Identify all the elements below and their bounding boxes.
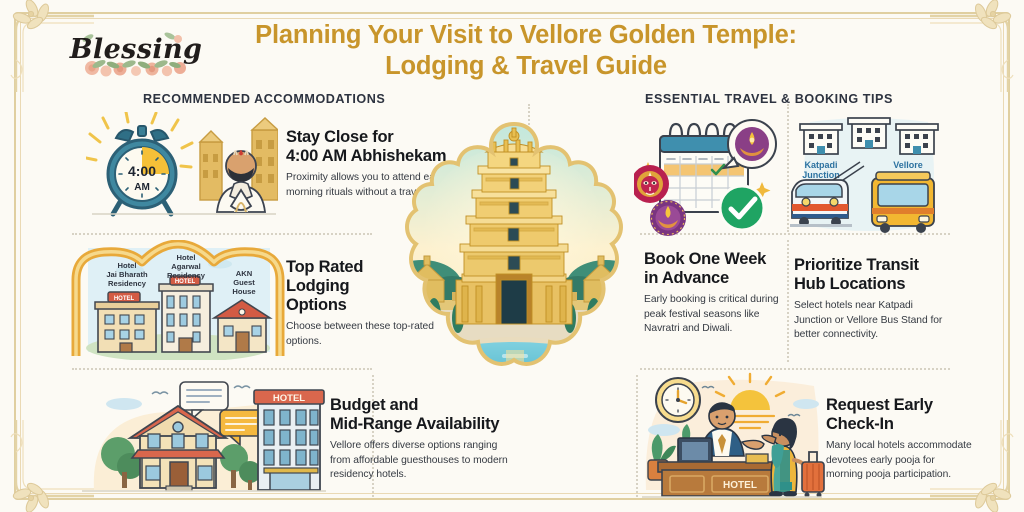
right-block-3-title-line2: Check-In: [826, 415, 894, 433]
left-block-2-title-line2: Lodging: [286, 277, 349, 295]
hotel-label-3: AKN: [236, 269, 252, 278]
hotel-sign-label: HOTEL: [273, 393, 305, 404]
brand-logo: Blessing: [66, 18, 206, 80]
corner-flourish-icon: [930, 0, 1022, 92]
right-block-1-title-line1: Book One Week: [644, 250, 766, 268]
train-and-bus-transit-icon: Katpadi Junction Vellore Bus Stand: [790, 114, 948, 236]
page-title-line1: Planning Your Visit to Vellore Golden Te…: [255, 21, 797, 49]
left-block-3-text: Budget and Mid-Range Availability Vellor…: [330, 396, 510, 483]
alarm-clock-and-priest-icon: 4:00 AM: [86, 112, 278, 224]
transit-label-katpadi: Katpadi: [804, 160, 837, 170]
left-block-2-title-line3: Options: [286, 296, 347, 314]
section-heading-accommodations: RECOMMENDED ACCOMMODATIONS: [143, 92, 385, 106]
svg-text:HOTEL: HOTEL: [114, 296, 135, 302]
right-block-2-title-line1: Prioritize Transit: [794, 256, 919, 274]
divider: [787, 104, 789, 232]
divider: [787, 240, 789, 362]
transit-label-vellore: Vellore: [893, 160, 923, 170]
page-title: Planning Your Visit to Vellore Golden Te…: [196, 20, 856, 82]
hotel-label-2: Agarwal: [171, 262, 201, 271]
right-block-1-title-line2: in Advance: [644, 269, 729, 287]
right-block-3-text: Request Early Check-In Many local hotels…: [826, 396, 974, 483]
brand-logo-text: Blessing: [70, 36, 203, 63]
divider: [72, 233, 372, 235]
hotel-reception-desk-icon: HOTEL: [636, 364, 826, 500]
left-block-2-title-line1: Top Rated: [286, 258, 363, 276]
calendar-with-checkmark-icon: [634, 114, 782, 236]
infographic-page: Blessing Planning Your Visit to Vellore …: [0, 0, 1024, 512]
golden-temple-gopuram-icon: [398, 118, 630, 408]
right-block-1-body: Early booking is critical during peak fe…: [644, 293, 784, 337]
hotel-label-1: Hotel: [118, 261, 137, 270]
left-block-1-title-line1: Stay Close for: [286, 128, 393, 146]
right-block-2-title-line2: Hub Locations: [794, 275, 905, 293]
right-block-3-title-line1: Request Early: [826, 396, 933, 414]
clock-time-label: 4:00: [128, 163, 156, 179]
divider: [72, 368, 372, 370]
hotel-label-2: Residency: [167, 271, 206, 280]
left-block-3-title-line2: Mid-Range Availability: [330, 415, 499, 433]
hotel-label-1: Residency: [108, 279, 147, 288]
page-title-line2: Lodging & Travel Guide: [196, 51, 856, 82]
three-hotel-buildings-icon: HOTEL HOTEL: [70, 240, 286, 360]
hotel-label-3: Guest: [233, 278, 255, 287]
guesthouse-and-hotel-building-icon: HOTEL: [74, 372, 330, 500]
right-block-3-body: Many local hotels accommodate devotees e…: [826, 439, 974, 483]
clock-meridiem-label: AM: [134, 182, 150, 193]
left-block-3-body: Vellore offers diverse options ranging f…: [330, 439, 510, 483]
right-block-2-text: Prioritize Transit Hub Locations Select …: [794, 256, 946, 343]
right-block-2-body: Select hotels near Katpadi Junction or V…: [794, 299, 946, 343]
hotel-label-3: House: [232, 287, 255, 296]
section-heading-travel-tips: ESSENTIAL TRAVEL & BOOKING TIPS: [645, 92, 893, 106]
desk-sign-label: HOTEL: [723, 480, 757, 491]
hotel-label-1: Jai Bharath: [106, 270, 148, 279]
hotel-label-2: Hotel: [177, 253, 196, 262]
right-block-1-text: Book One Week in Advance Early booking i…: [644, 250, 784, 337]
